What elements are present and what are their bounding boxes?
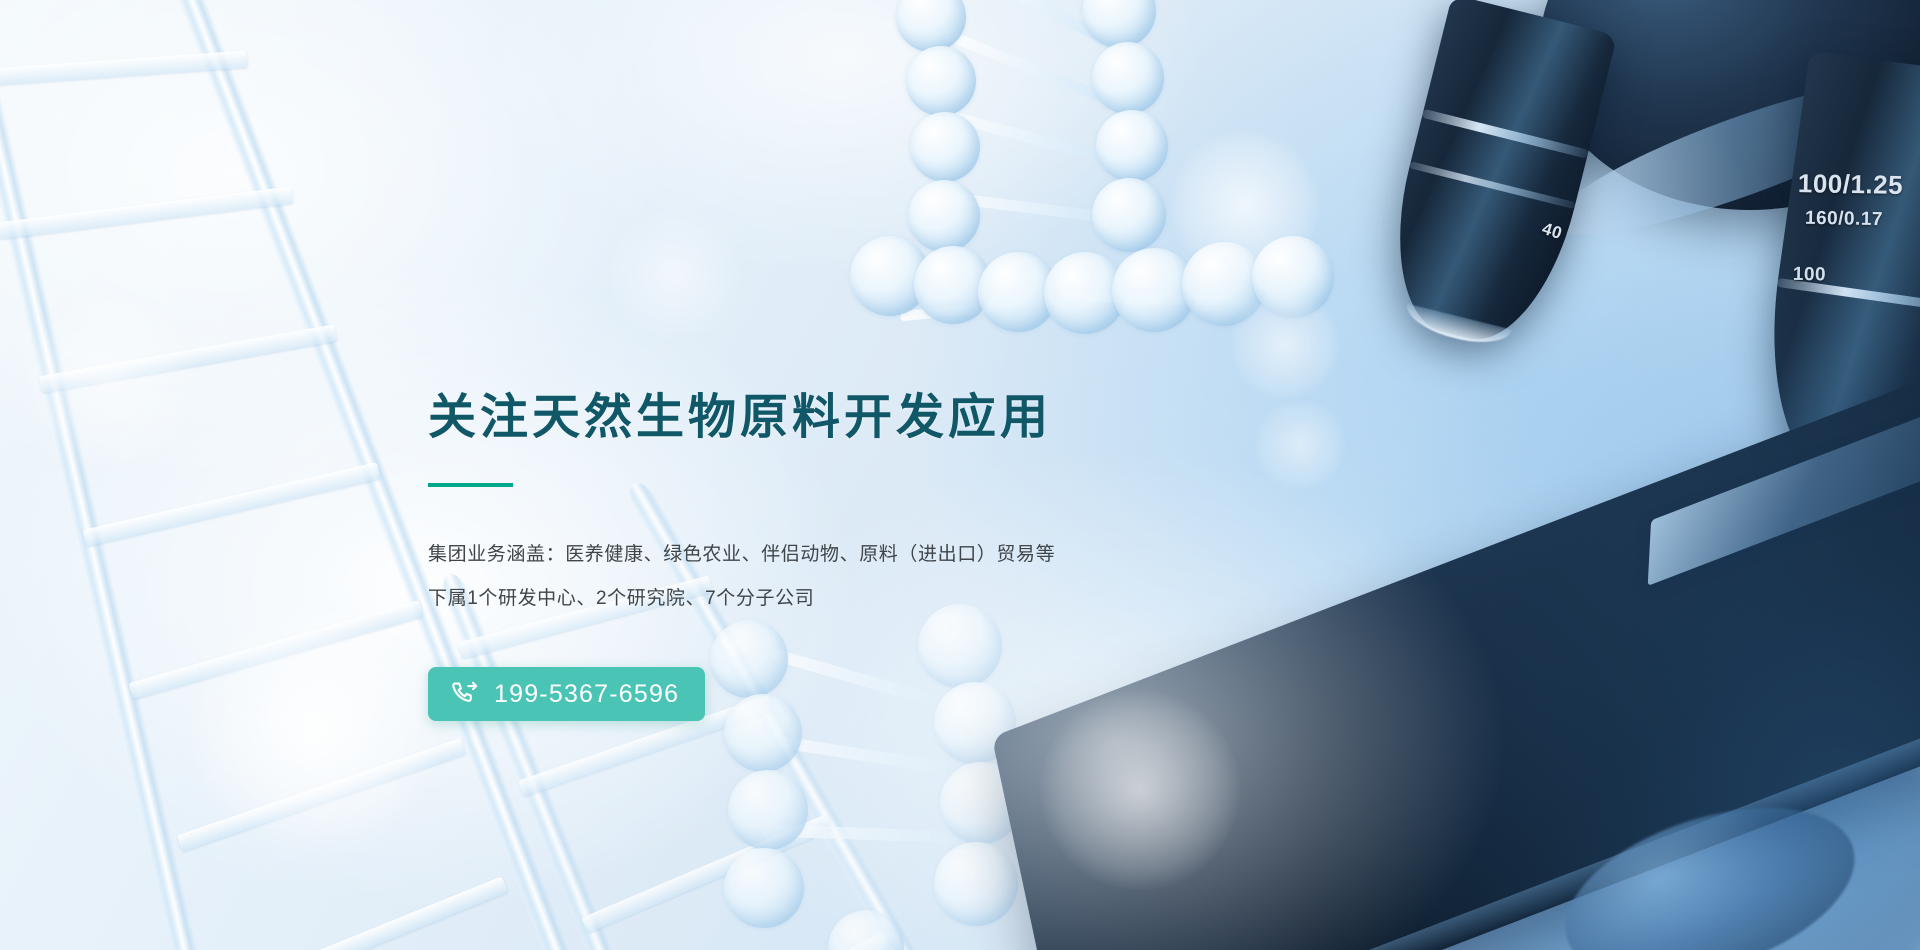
phone-forward-icon [450, 679, 480, 709]
hero-description: 集团业务涵盖：医养健康、绿色农业、伴侣动物、原料（进出口）贸易等 下属1个研发中… [428, 533, 1248, 621]
bokeh-orb [20, 290, 200, 470]
microscope-objective-lens-rear: 100/1.25 160/0.17 100 [1752, 50, 1920, 494]
lens-label-40: 40 [1540, 219, 1565, 244]
lens-label-100-125: 100/1.25 [1798, 168, 1904, 201]
hero-banner: 40 100/1.25 160/0.17 100 关注天然生物原料开发应用 集团… [0, 0, 1920, 950]
hero-content: 关注天然生物原料开发应用 集团业务涵盖：医养健康、绿色农业、伴侣动物、原料（进出… [428, 390, 1248, 721]
bokeh-orb [1170, 130, 1320, 280]
microscope-turret [1540, 0, 1920, 210]
title-accent-rule [428, 483, 513, 487]
dna-bead-chain-mid [860, 190, 1420, 420]
hero-description-line-1: 集团业务涵盖：医养健康、绿色农业、伴侣动物、原料（进出口）贸易等 [428, 533, 1248, 577]
microscope-focus-knob [1544, 775, 1876, 950]
bokeh-orb [185, 600, 445, 860]
page-title: 关注天然生物原料开发应用 [428, 390, 1248, 445]
phone-number-label: 199-5367-6596 [494, 682, 679, 707]
bokeh-orb [1255, 400, 1345, 490]
dna-bead-chain-top [820, 0, 1340, 410]
microscope-objective-lens-front: 40 [1373, 0, 1618, 356]
lens-label-100: 100 [1793, 264, 1827, 287]
phone-call-button[interactable]: 199-5367-6596 [428, 667, 705, 721]
bokeh-orb [610, 210, 740, 340]
lens-label-160-017: 160/0.17 [1805, 208, 1883, 231]
microscope-turret-ring [1539, 52, 1920, 262]
microscope-slide-clip [1648, 402, 1920, 586]
microscope-base [1190, 630, 1920, 950]
bokeh-orb [1230, 290, 1340, 400]
hero-description-line-2: 下属1个研发中心、2个研究院、7个分子公司 [428, 577, 1248, 621]
